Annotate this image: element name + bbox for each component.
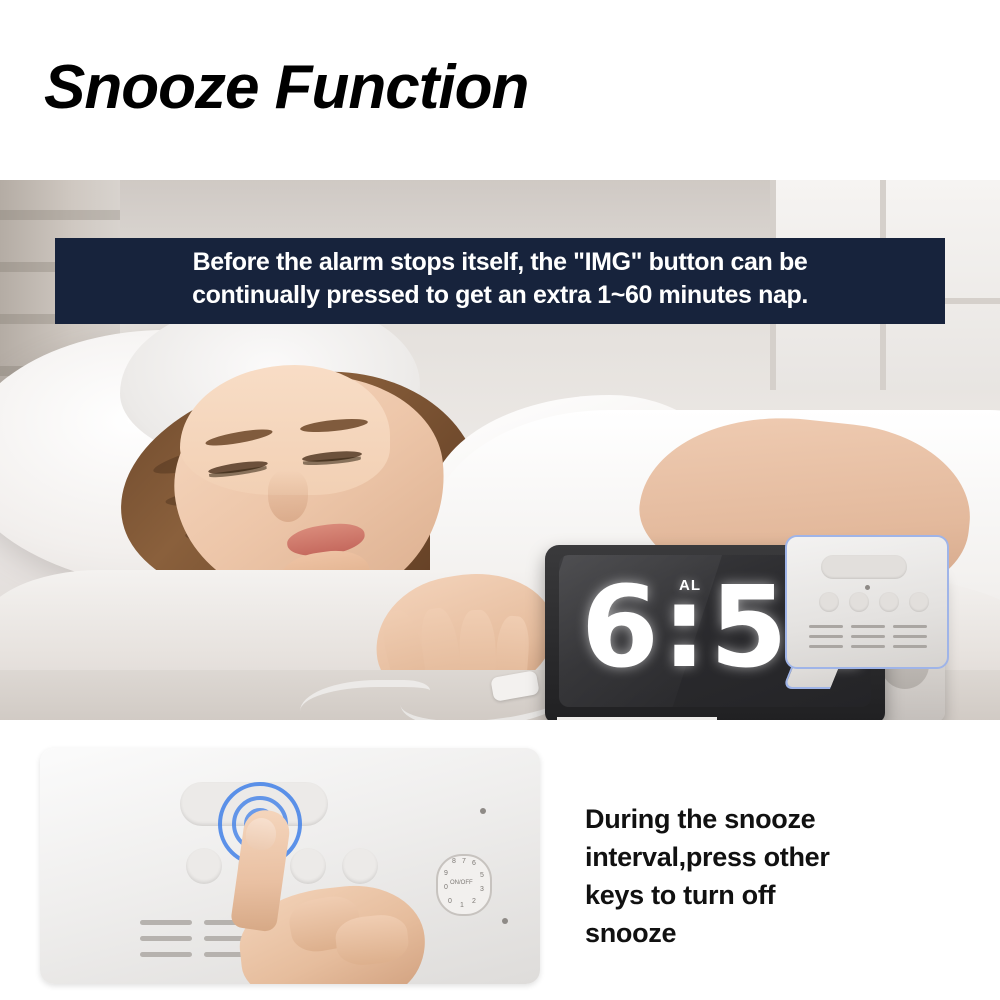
- speaker-vent: [140, 952, 192, 957]
- nose: [268, 470, 308, 522]
- function-button: [290, 848, 326, 884]
- speaker-vent: [893, 645, 927, 648]
- callout-line-1: Before the alarm stops itself, the "IMG"…: [65, 246, 935, 279]
- caption-line-4: snooze: [585, 914, 965, 952]
- function-button-zoom: [909, 592, 929, 612]
- bottom-caption: During the snooze interval,press other k…: [585, 800, 965, 952]
- dial-number: 5: [480, 872, 484, 879]
- dial-number: 0: [448, 898, 452, 905]
- settings-dial: 8 7 6 9 5 0 3 0 1 2 ON/OFF: [436, 854, 492, 916]
- dial-number: 8: [452, 858, 456, 865]
- clock-stand: [557, 717, 717, 720]
- callout-banner: Before the alarm stops itself, the "IMG"…: [55, 238, 945, 324]
- speaker-vent: [893, 625, 927, 628]
- function-button-zoom: [849, 592, 869, 612]
- dial-number: 1: [460, 902, 464, 909]
- function-button: [186, 848, 222, 884]
- function-button-zoom: [879, 592, 899, 612]
- speaker-vent: [851, 625, 885, 628]
- alarm-indicator-label: AL: [679, 577, 701, 594]
- speaker-vent: [809, 645, 843, 648]
- speaker-vent: [140, 936, 192, 941]
- dial-number: 6: [472, 860, 476, 867]
- speaker-vent: [809, 635, 843, 638]
- speaker-vent: [893, 635, 927, 638]
- dial-number: 3: [480, 886, 484, 893]
- caption-line-2: interval,press other: [585, 838, 965, 876]
- control-panel-zoom-bubble: [785, 535, 945, 690]
- speaker-vent: [851, 635, 885, 638]
- dial-number: 2: [472, 898, 476, 905]
- function-button: [342, 848, 378, 884]
- page-title: Snooze Function: [44, 52, 528, 123]
- dial-number: 0: [444, 884, 448, 891]
- indicator-dot: [865, 585, 870, 590]
- bubble-body: [785, 535, 949, 669]
- caption-line-1: During the snooze: [585, 800, 965, 838]
- device-top-panel-photo: 8 7 6 9 5 0 3 0 1 2 ON/OFF: [40, 748, 540, 984]
- caption-line-3: keys to turn off: [585, 876, 965, 914]
- dial-label: ON/OFF: [450, 880, 473, 886]
- callout-line-2: continually pressed to get an extra 1~60…: [65, 279, 935, 312]
- speaker-vent: [809, 625, 843, 628]
- indicator-dot: [480, 808, 486, 814]
- dial-number: 9: [444, 870, 448, 877]
- speaker-vent: [851, 645, 885, 648]
- snooze-button-zoom: [821, 555, 907, 579]
- dial-number: 7: [462, 858, 466, 865]
- indicator-dot: [502, 918, 508, 924]
- headboard-slat: [0, 210, 120, 220]
- speaker-vent: [140, 920, 192, 925]
- function-button-zoom: [819, 592, 839, 612]
